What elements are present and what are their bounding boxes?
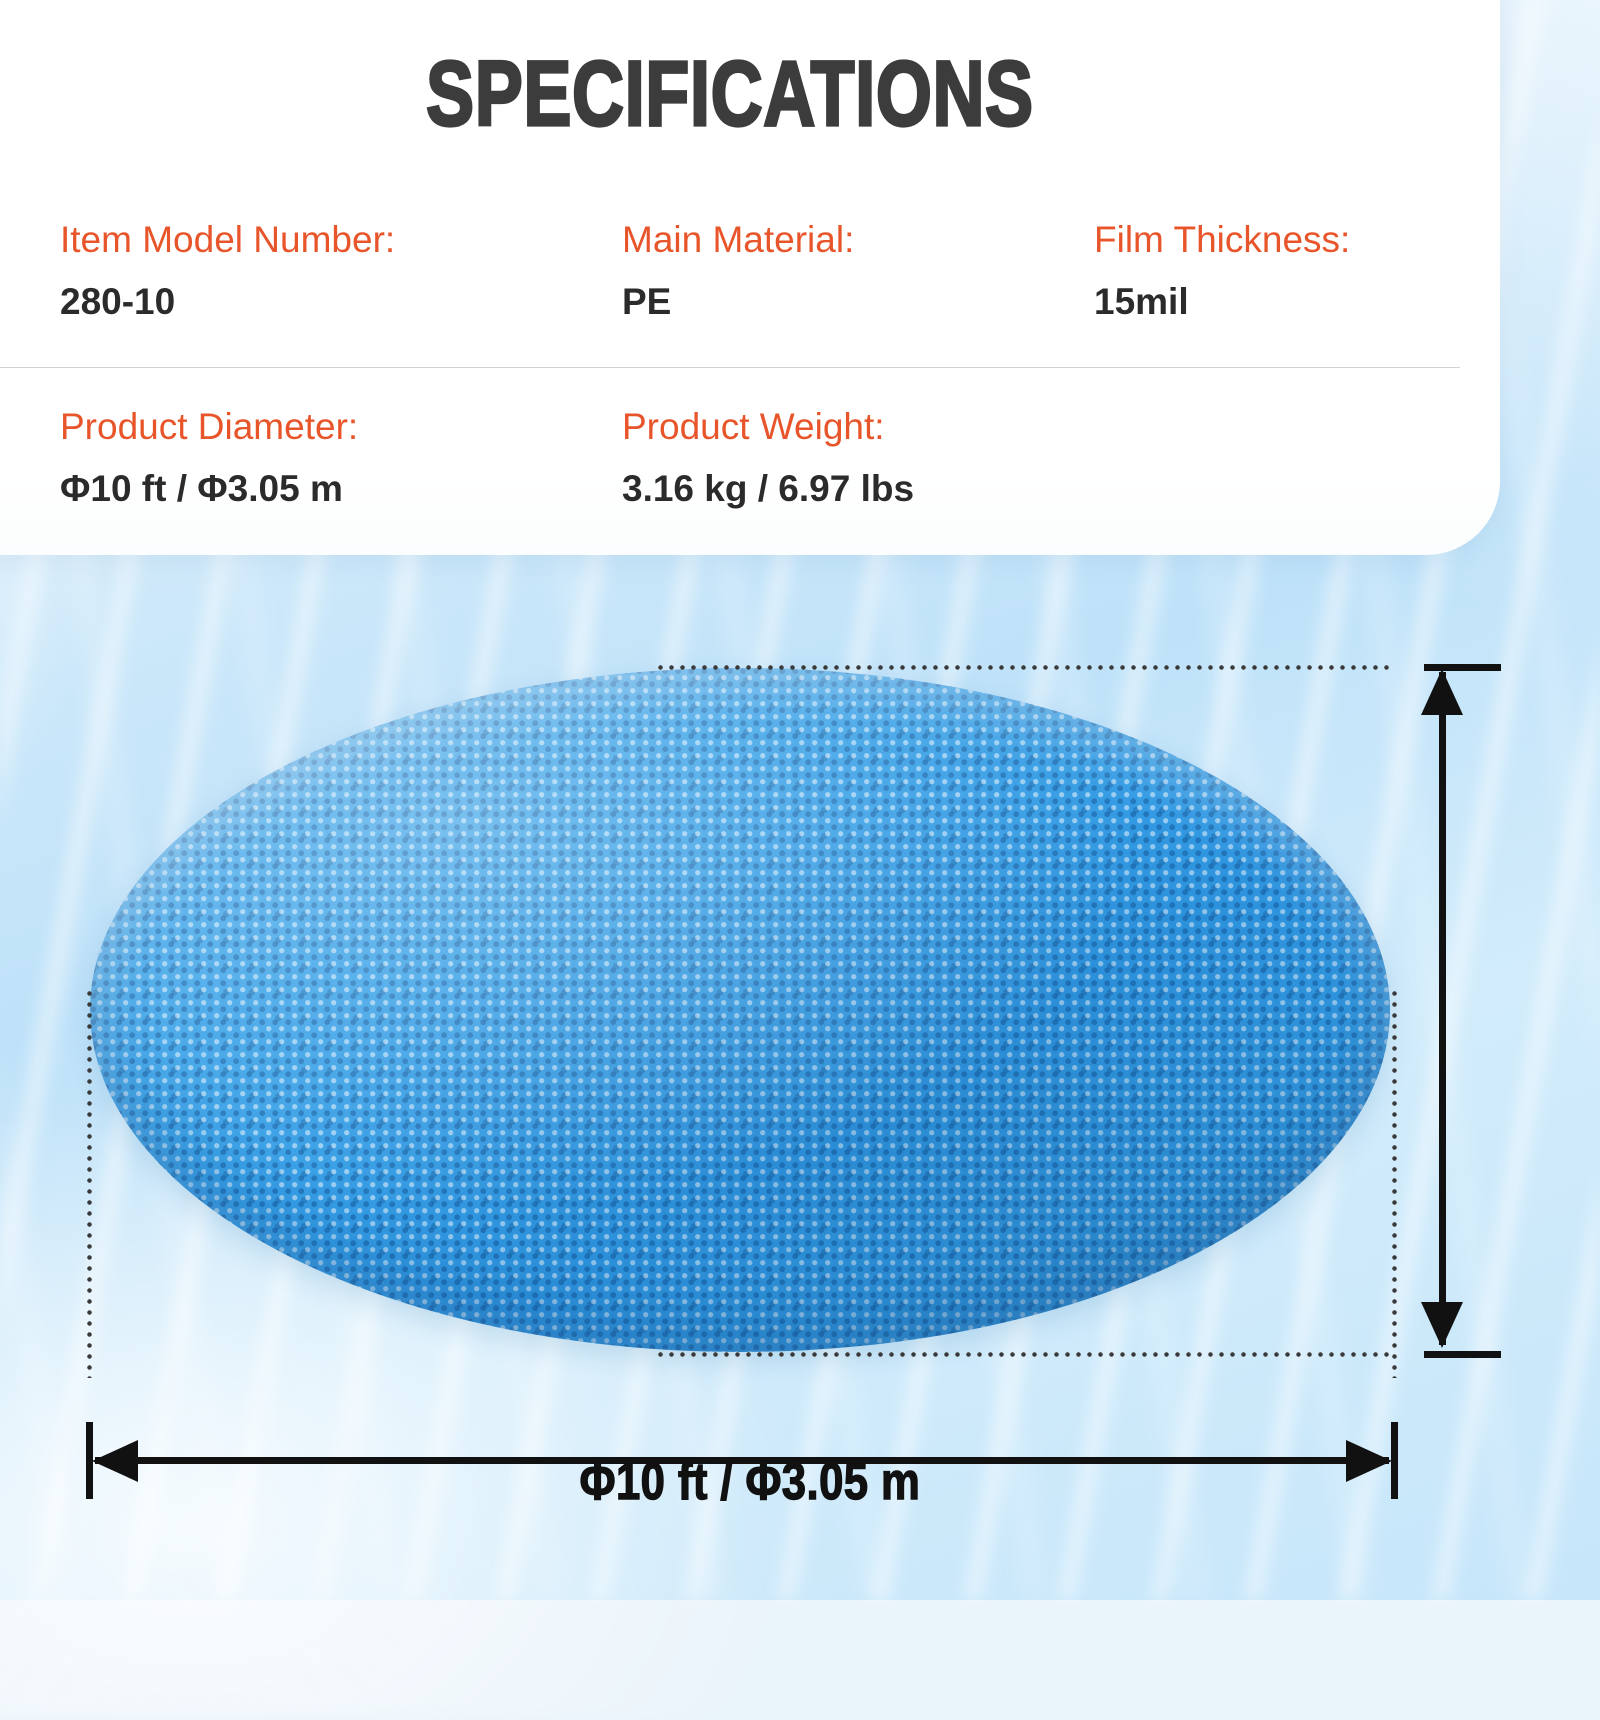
spec-label: Product Weight: bbox=[622, 402, 1034, 452]
spec-label: Main Material: bbox=[622, 215, 1034, 265]
arrowhead-left-icon bbox=[92, 1439, 138, 1483]
extension-line-right-vertical bbox=[1392, 988, 1397, 1378]
spec-label: Film Thickness: bbox=[1094, 215, 1460, 265]
spec-cell-film-thickness: Film Thickness: 15mil bbox=[1034, 215, 1460, 327]
arrowhead-up-icon bbox=[1420, 669, 1464, 715]
spec-cell-product-weight: Product Weight: 3.16 kg / 6.97 lbs bbox=[562, 402, 1034, 514]
pool-solar-cover bbox=[90, 668, 1390, 1352]
dimension-tick-right bbox=[1391, 1422, 1398, 1499]
extension-line-top-horizontal bbox=[655, 665, 1395, 670]
spec-value: 3.16 kg / 6.97 lbs bbox=[622, 464, 1034, 514]
dimension-tick-bottom bbox=[1424, 1351, 1501, 1358]
spec-value: 280-10 bbox=[60, 277, 562, 327]
spec-label: Product Diameter: bbox=[60, 402, 562, 452]
page-title: SPECIFICATIONS bbox=[161, 48, 1300, 140]
width-dimension-label: Φ10 ft / Φ3.05 m bbox=[490, 1452, 1011, 1512]
spec-cell-main-material: Main Material: PE bbox=[562, 215, 1034, 327]
dimension-line-height bbox=[1439, 672, 1446, 1345]
spec-value: 15mil bbox=[1094, 277, 1460, 327]
cover-sheen-overlay bbox=[90, 668, 1390, 1352]
spec-row: Item Model Number: 280-10 Main Material:… bbox=[0, 215, 1460, 367]
extension-line-bottom-horizontal bbox=[655, 1352, 1395, 1357]
extension-line-left-vertical bbox=[87, 988, 92, 1378]
arrowhead-down-icon bbox=[1420, 1302, 1464, 1348]
spec-value: PE bbox=[622, 277, 1034, 327]
specifications-grid: Item Model Number: 280-10 Main Material:… bbox=[0, 215, 1460, 552]
spec-label: Item Model Number: bbox=[60, 215, 562, 265]
specifications-card: SPECIFICATIONS Item Model Number: 280-10… bbox=[0, 0, 1500, 555]
spec-row: Product Diameter: Φ10 ft / Φ3.05 m Produ… bbox=[0, 368, 1460, 552]
spec-value: Φ10 ft / Φ3.05 m bbox=[60, 464, 562, 514]
spec-cell-item-model-number: Item Model Number: 280-10 bbox=[0, 215, 562, 327]
spec-cell-product-diameter: Product Diameter: Φ10 ft / Φ3.05 m bbox=[0, 402, 562, 514]
arrowhead-right-icon bbox=[1346, 1439, 1392, 1483]
